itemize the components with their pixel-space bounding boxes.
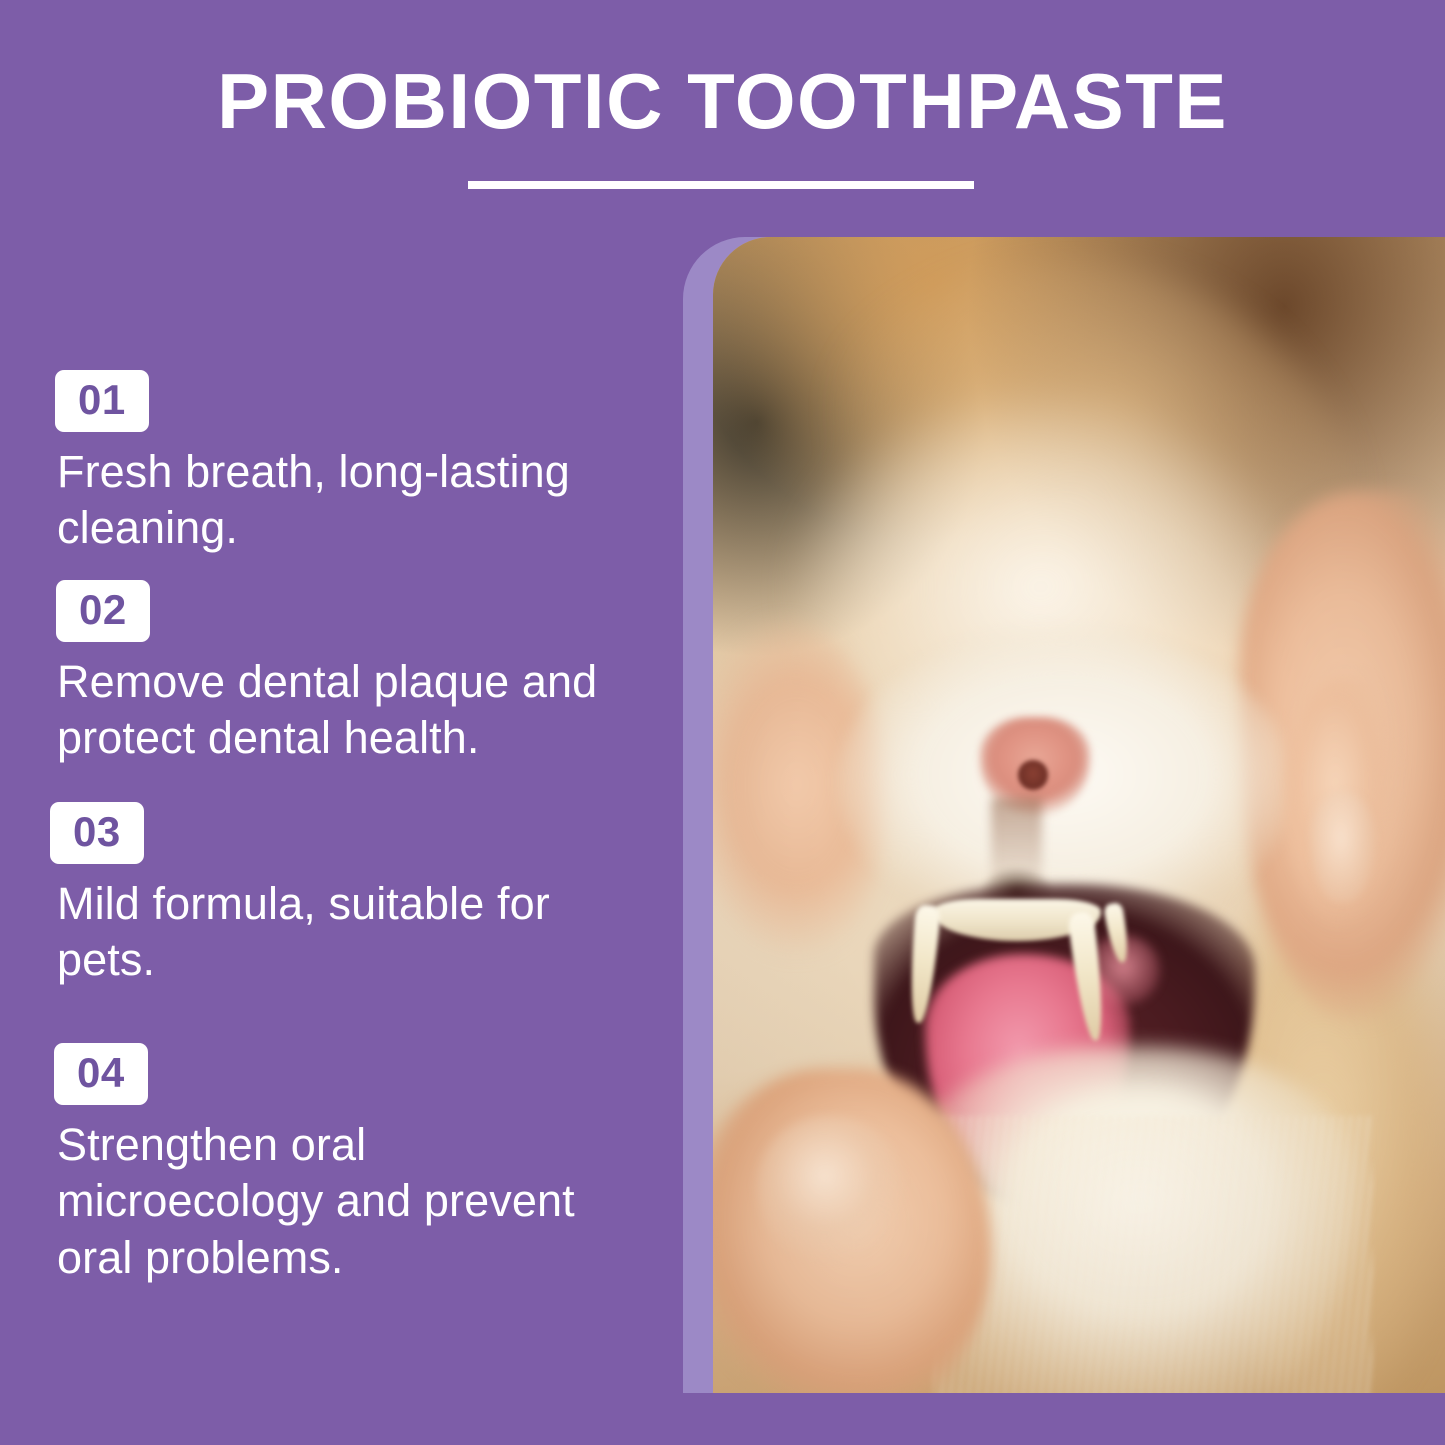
feature-number-badge-01: 01	[55, 370, 149, 432]
badge-wrap-04: 04	[0, 1043, 640, 1105]
page-title: PROBIOTIC TOOTHPASTE	[0, 62, 1445, 140]
badge-wrap-01: 01	[0, 370, 640, 432]
badge-wrap-02: 02	[0, 580, 640, 642]
cat-dental-photo	[713, 237, 1445, 1393]
feature-number-badge-04: 04	[54, 1043, 148, 1105]
feature-item-03: 03 Mild formula, suitable for pets.	[0, 802, 640, 989]
title-underline-rule	[468, 181, 974, 189]
feature-number-badge-02: 02	[56, 580, 150, 642]
feature-number-badge-03: 03	[50, 802, 144, 864]
feature-item-04: 04 Strengthen oral microecology and prev…	[0, 1043, 640, 1286]
feature-item-01: 01 Fresh breath, long-lasting cleaning.	[0, 370, 640, 557]
badge-wrap-03: 03	[0, 802, 640, 864]
feature-item-02: 02 Remove dental plaque and protect dent…	[0, 580, 640, 767]
photo-vignette	[713, 237, 1445, 1393]
feature-text-03: Mild formula, suitable for pets.	[0, 876, 640, 989]
poster-header: PROBIOTIC TOOTHPASTE	[0, 0, 1445, 232]
product-infographic-poster: PROBIOTIC TOOTHPASTE 01 Fresh breath, lo…	[0, 0, 1445, 1445]
feature-text-02: Remove dental plaque and protect dental …	[0, 654, 640, 767]
feature-text-04: Strengthen oral microecology and prevent…	[0, 1117, 640, 1286]
feature-text-01: Fresh breath, long-lasting cleaning.	[0, 444, 640, 557]
